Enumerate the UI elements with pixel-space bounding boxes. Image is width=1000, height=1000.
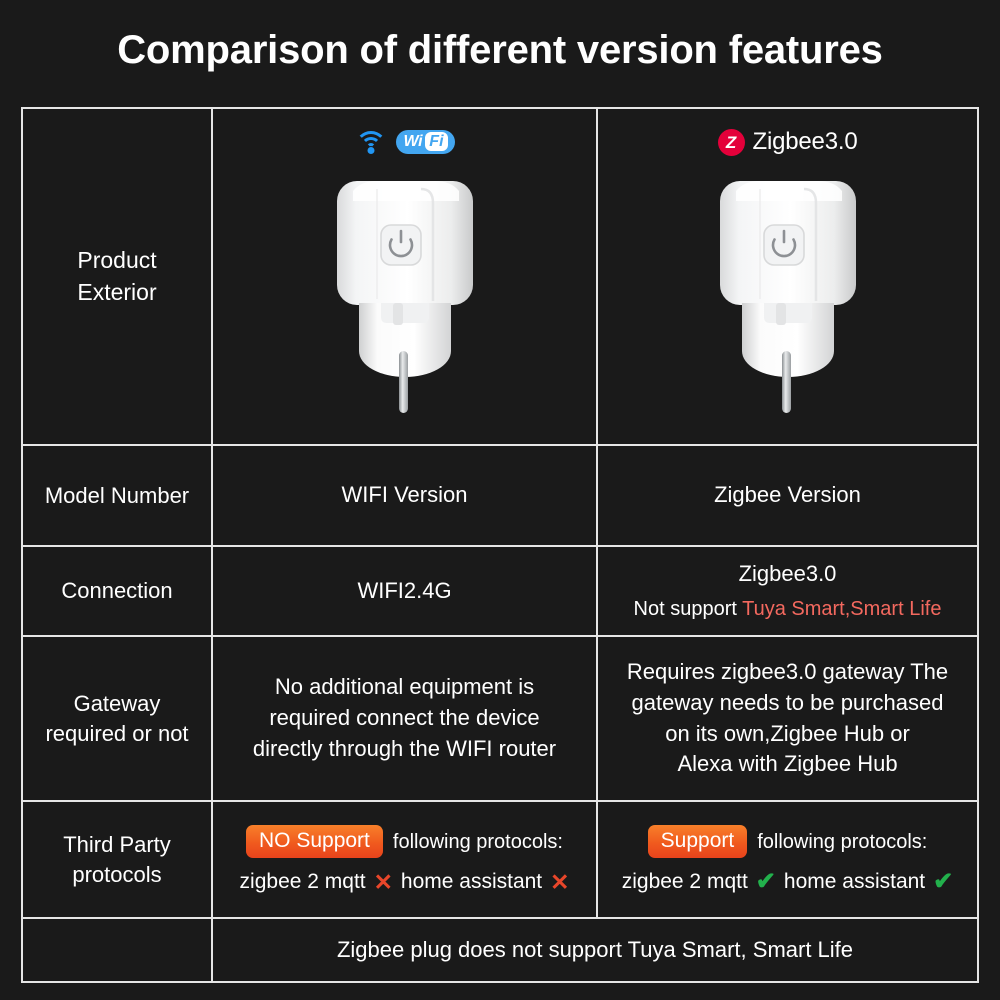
- zigbee-connection-note: Not support Tuya Smart,Smart Life: [634, 595, 942, 623]
- cell-wifi-gateway: No additional equipment is required conn…: [213, 637, 598, 800]
- status-badge-no-support: NO Support: [246, 825, 383, 858]
- check-icon: ✔: [756, 870, 776, 894]
- unsupported-apps: Tuya Smart,Smart Life: [742, 598, 941, 620]
- wifi-icon: [354, 129, 388, 155]
- comparison-page: Comparison of different version features…: [0, 0, 1000, 1000]
- cell-wifi-product: Wi Fi: [213, 109, 598, 444]
- wifi-wordmark-wi: Wi: [403, 133, 425, 151]
- footer-empty-cell: [23, 919, 213, 981]
- check-icon: ✔: [933, 870, 953, 894]
- cell-wifi-connection: WIFI2.4G: [213, 547, 598, 635]
- zigbee-wordmark: Zigbee3.0: [753, 128, 858, 156]
- table-row-third-party-protocols: Third Party protocols NO Support followi…: [23, 802, 977, 919]
- zigbee-icon: Z: [718, 129, 745, 156]
- wifi-wordmark-fi: Fi: [425, 132, 447, 151]
- zigbee-protocol-zigbee2mqtt: zigbee 2 mqtt: [622, 870, 748, 894]
- row-label-model-number: Model Number: [23, 446, 213, 545]
- cell-zigbee-gateway: Requires zigbee3.0 gateway The gateway n…: [598, 637, 977, 800]
- cross-icon: ✕: [550, 871, 569, 894]
- page-title: Comparison of different version features: [0, 28, 1000, 73]
- zigbee-protocol-home-assistant: home assistant: [784, 870, 925, 894]
- smart-plug-image-wifi: [325, 173, 485, 423]
- table-row-connection: Connection WIFI2.4G Zigbee3.0 Not suppor…: [23, 547, 977, 637]
- comparison-table: Product Exterior Wi Fi: [21, 107, 979, 983]
- cell-zigbee-model-number: Zigbee Version: [598, 446, 977, 545]
- table-row-footer-note: Zigbee plug does not support Tuya Smart,…: [23, 919, 977, 981]
- table-row-product-exterior: Product Exterior Wi Fi: [23, 109, 977, 446]
- row-label-line2: Exterior: [77, 277, 156, 308]
- row-label-gateway: Gateway required or not: [23, 637, 213, 800]
- cell-zigbee-connection: Zigbee3.0 Not support Tuya Smart,Smart L…: [598, 547, 977, 635]
- wifi-wordmark: Wi Fi: [396, 130, 454, 154]
- row-label-line1: Product: [77, 245, 156, 276]
- cell-zigbee-third-party: Support following protocols: zigbee 2 mq…: [598, 802, 977, 917]
- status-badge-support: Support: [648, 825, 748, 858]
- zigbee-protocols-caption: following protocols:: [757, 828, 927, 856]
- zigbee-brand-logo: Z Zigbee3.0: [718, 125, 858, 159]
- row-label-third-party: Third Party protocols: [23, 802, 213, 917]
- wifi-protocol-home-assistant: home assistant: [401, 870, 542, 894]
- cell-wifi-model-number: WIFI Version: [213, 446, 598, 545]
- cell-wifi-third-party: NO Support following protocols: zigbee 2…: [213, 802, 598, 917]
- smart-plug-image-zigbee: [708, 173, 868, 423]
- row-label-product-exterior: Product Exterior: [23, 109, 213, 444]
- cross-icon: ✕: [374, 871, 393, 894]
- table-row-gateway: Gateway required or not No additional eq…: [23, 637, 977, 802]
- cell-zigbee-product: Z Zigbee3.0: [598, 109, 977, 444]
- zigbee-connection-standard: Zigbee3.0: [739, 559, 837, 590]
- wifi-protocol-zigbee2mqtt: zigbee 2 mqtt: [240, 870, 366, 894]
- footer-note-cell: Zigbee plug does not support Tuya Smart,…: [213, 919, 977, 981]
- wifi-protocols-caption: following protocols:: [393, 828, 563, 856]
- table-row-model-number: Model Number WIFI Version Zigbee Version: [23, 446, 977, 547]
- row-label-connection: Connection: [23, 547, 213, 635]
- footer-note: Zigbee plug does not support Tuya Smart,…: [337, 935, 853, 966]
- wifi-brand-logo: Wi Fi: [354, 125, 454, 159]
